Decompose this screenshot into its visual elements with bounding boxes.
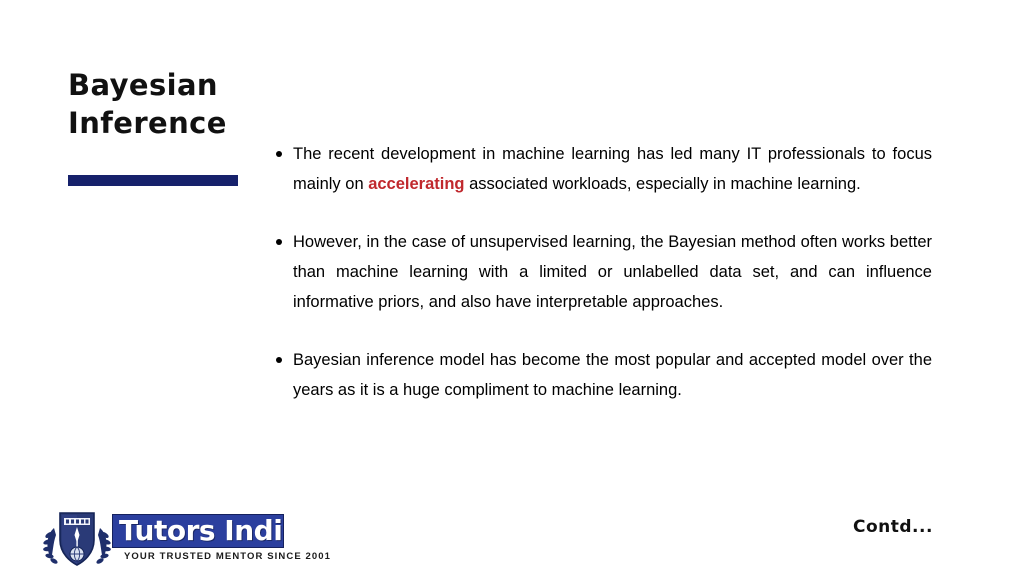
list-item: The recent development in machine learni… bbox=[276, 139, 932, 199]
shield-laurel-crest-icon bbox=[40, 510, 114, 568]
logo-tagline: YOUR TRUSTED MENTOR SINCE 2001 bbox=[124, 551, 331, 562]
slide-canvas: Bayesian Inference The recent developmen… bbox=[0, 0, 1024, 576]
title-underline-bar bbox=[68, 175, 238, 186]
bullet-dot-icon bbox=[276, 239, 282, 245]
list-item-text: However, in the case of unsupervised lea… bbox=[293, 227, 932, 317]
logo-wordmark-text: Tutors India bbox=[119, 514, 284, 548]
brand-logo: Tutors India YOUR TRUSTED MENTOR SINCE 2… bbox=[36, 508, 286, 570]
list-item-text: The recent development in machine learni… bbox=[293, 139, 932, 199]
list-item-text: Bayesian inference model has become the … bbox=[293, 345, 932, 405]
page-title-line-1: Bayesian bbox=[68, 66, 268, 104]
continued-label: Contd... bbox=[853, 517, 933, 537]
text-segment: associated workloads, especially in mach… bbox=[465, 175, 861, 193]
bullet-list: The recent development in machine learni… bbox=[276, 139, 932, 405]
list-item: However, in the case of unsupervised lea… bbox=[276, 227, 932, 317]
logo-wordmark-plate: Tutors India bbox=[112, 514, 284, 548]
list-item: Bayesian inference model has become the … bbox=[276, 345, 932, 405]
bullet-dot-icon bbox=[276, 151, 282, 157]
page-title: Bayesian Inference bbox=[68, 66, 268, 142]
highlight-accelerating: accelerating bbox=[368, 175, 464, 193]
bullet-dot-icon bbox=[276, 357, 282, 363]
page-title-line-2: Inference bbox=[68, 104, 268, 142]
